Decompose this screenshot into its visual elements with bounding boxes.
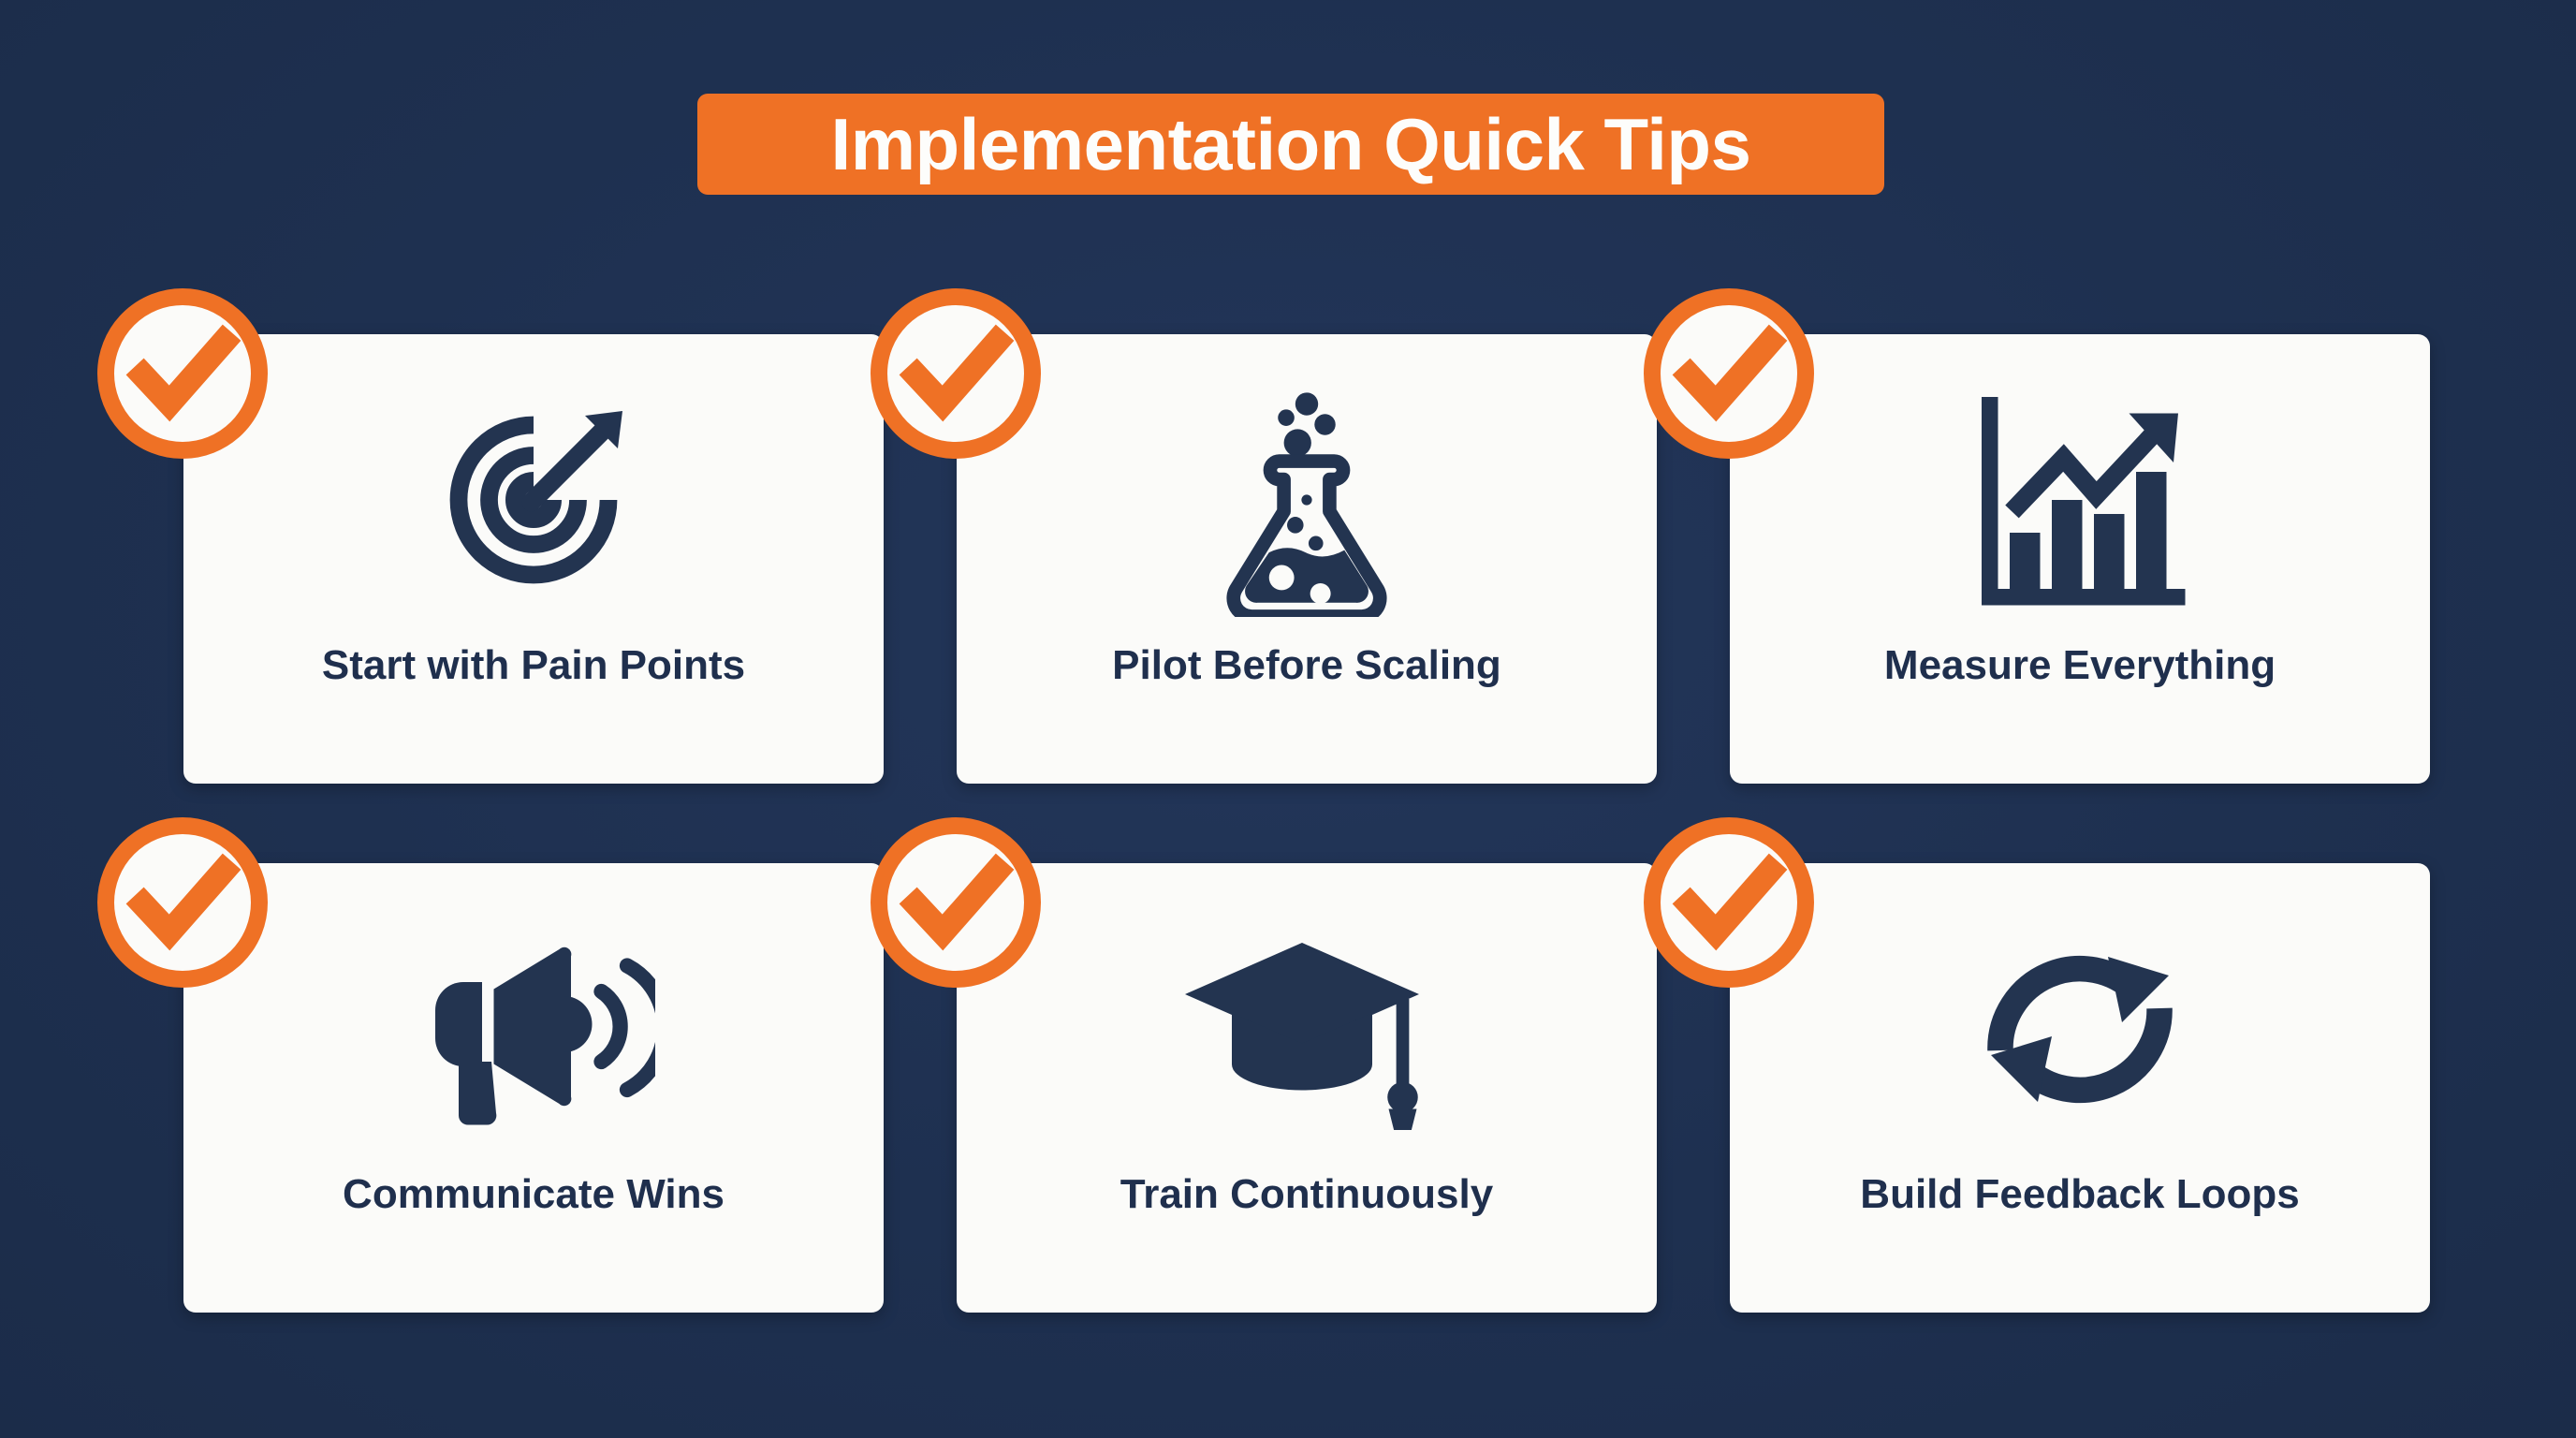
megaphone-icon [183,912,884,1146]
tip-card-label: Communicate Wins [183,1172,884,1217]
check-circle-icon [1635,280,1822,467]
infographic-canvas: Implementation Quick Tips Start with Pai… [0,0,2576,1438]
tip-card-label: Pilot Before Scaling [957,643,1657,688]
bar-chart-growth-icon [1730,383,2430,617]
tip-card-label: Measure Everything [1730,643,2430,688]
page-title: Implementation Quick Tips [831,108,1751,181]
tips-grid: Start with Pain Points [183,334,2430,1313]
check-circle-icon [1635,809,1822,996]
target-arrow-icon [183,383,884,617]
check-circle-icon [862,809,1049,996]
check-circle-icon [862,280,1049,467]
refresh-loop-icon [1730,912,2430,1146]
tip-card-build-feedback-loops[interactable]: Build Feedback Loops [1730,863,2430,1313]
flask-bubbles-icon [957,383,1657,617]
tip-card-label: Build Feedback Loops [1730,1172,2430,1217]
tip-card-train-continuously[interactable]: Train Continuously [957,863,1657,1313]
tip-card-pilot-before-scaling[interactable]: Pilot Before Scaling [957,334,1657,784]
tip-card-communicate-wins[interactable]: Communicate Wins [183,863,884,1313]
tip-card-label: Train Continuously [957,1172,1657,1217]
check-circle-icon [89,280,276,467]
title-banner: Implementation Quick Tips [697,94,1884,195]
tip-card-label: Start with Pain Points [183,643,884,688]
graduation-cap-icon [957,912,1657,1146]
check-circle-icon [89,809,276,996]
tip-card-measure-everything[interactable]: Measure Everything [1730,334,2430,784]
tip-card-start-with-pain-points[interactable]: Start with Pain Points [183,334,884,784]
